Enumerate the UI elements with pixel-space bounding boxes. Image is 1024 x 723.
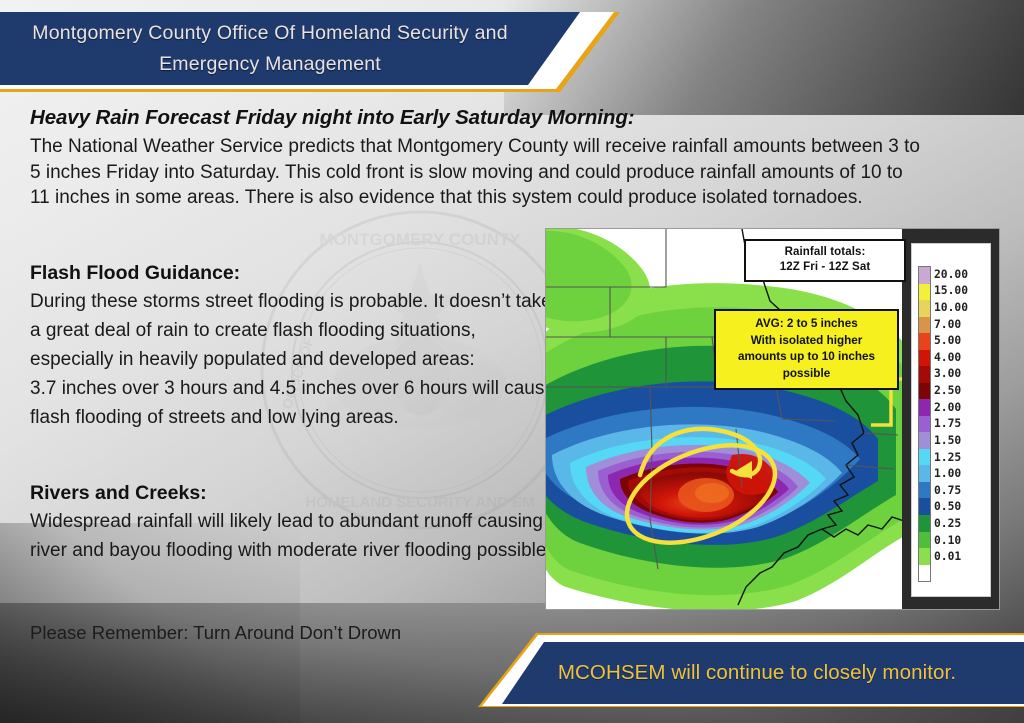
- legend-swatch: [919, 449, 930, 466]
- legend-swatch: [919, 317, 930, 334]
- flash-flood-section: Flash Flood Guidance: During these storm…: [30, 262, 560, 432]
- callout-avg-line3: amounts up to 10 inches: [722, 349, 891, 366]
- legend-tick-label: 0.50: [934, 499, 968, 516]
- legend-swatch: [919, 383, 930, 400]
- legend-swatch: [919, 399, 930, 416]
- legend-tick-label: 1.75: [934, 416, 968, 433]
- legend-tick-label: 0.75: [934, 482, 968, 499]
- footer-banner: MCOHSEM will continue to closely monitor…: [478, 633, 1024, 707]
- legend-swatch: [919, 300, 930, 317]
- legend-tick-label: 0.25: [934, 515, 968, 532]
- rainfall-legend: 20.0015.0010.007.005.004.003.002.502.001…: [911, 243, 991, 597]
- legend-swatch: [919, 515, 930, 532]
- legend-tick-label: 3.00: [934, 366, 968, 383]
- rivers-creeks-body: Widespread rainfall will likely lead to …: [30, 507, 560, 565]
- rainfall-forecast-map: 20.0015.0010.007.005.004.003.002.502.001…: [545, 228, 1000, 610]
- legend-swatch: [919, 416, 930, 433]
- header-title: Montgomery County Office Of Homeland Sec…: [0, 18, 540, 80]
- main-content: Heavy Rain Forecast Friday night into Ea…: [30, 106, 920, 211]
- legend-swatch: [919, 532, 930, 549]
- legend-tick-label: 2.50: [934, 382, 968, 399]
- legend-swatch: [919, 284, 930, 301]
- legend-swatch: [919, 482, 930, 499]
- callout-rainfall-totals: Rainfall totals: 12Z Fri - 12Z Sat: [744, 239, 906, 282]
- legend-swatch: [919, 333, 930, 350]
- callout-rainfall-line1: Rainfall totals:: [746, 245, 904, 260]
- callout-rainfall-line2: 12Z Fri - 12Z Sat: [746, 260, 904, 275]
- flash-flood-heading: Flash Flood Guidance:: [30, 262, 560, 285]
- legend-tick-label: 15.00: [934, 283, 968, 300]
- legend-tick-label: 2.00: [934, 399, 968, 416]
- rivers-creeks-heading: Rivers and Creeks:: [30, 482, 560, 505]
- legend-tick-label: 20.00: [934, 266, 968, 283]
- legend-swatch: [919, 432, 930, 449]
- header-banner: Montgomery County Office Of Homeland Sec…: [0, 12, 620, 92]
- lede-paragraph: The National Weather Service predicts th…: [30, 134, 920, 211]
- svg-text:MONTGOMERY COUNTY: MONTGOMERY COUNTY: [319, 230, 521, 249]
- lede-title: Heavy Rain Forecast Friday night into Ea…: [30, 106, 920, 130]
- legend-tick-label: 1.25: [934, 449, 968, 466]
- header-title-line2: Emergency Management: [0, 49, 540, 80]
- legend-tick-label: [934, 565, 968, 582]
- legend-swatch: [919, 465, 930, 482]
- legend-tick-label: 5.00: [934, 333, 968, 350]
- legend-tick-label: 0.01: [934, 549, 968, 566]
- legend-tick-label: 4.00: [934, 349, 968, 366]
- turn-around-dont-drown-note: Please Remember: Turn Around Don’t Drown: [30, 622, 401, 644]
- legend-tick-label: 1.50: [934, 432, 968, 449]
- legend-tick-label: 7.00: [934, 316, 968, 333]
- callout-avg-line2: With isolated higher: [722, 333, 891, 350]
- callout-average-amounts: AVG: 2 to 5 inches With isolated higher …: [714, 309, 899, 390]
- legend-swatch: [919, 350, 930, 367]
- legend-swatch: [919, 548, 930, 565]
- footer-message: MCOHSEM will continue to closely monitor…: [502, 642, 1012, 704]
- legend-swatch: [919, 498, 930, 515]
- legend-swatch: [919, 565, 930, 582]
- legend-swatch: [919, 267, 930, 284]
- flash-flood-body: During these storms street flooding is p…: [30, 287, 560, 374]
- callout-avg-line1: AVG: 2 to 5 inches: [722, 316, 891, 333]
- legend-tick-labels: 20.0015.0010.007.005.004.003.002.502.001…: [934, 266, 968, 582]
- header-title-line1: Montgomery County Office Of Homeland Sec…: [32, 22, 508, 44]
- legend-tick-label: 0.10: [934, 532, 968, 549]
- callout-avg-line4: possible: [722, 366, 891, 383]
- rivers-creeks-section: Rivers and Creeks: Widespread rainfall w…: [30, 482, 560, 565]
- legend-color-bar: [918, 266, 931, 582]
- legend-swatch: [919, 366, 930, 383]
- legend-tick-label: 1.00: [934, 466, 968, 483]
- flash-flood-body-2: 3.7 inches over 3 hours and 4.5 inches o…: [30, 374, 560, 432]
- legend-tick-label: 10.00: [934, 299, 968, 316]
